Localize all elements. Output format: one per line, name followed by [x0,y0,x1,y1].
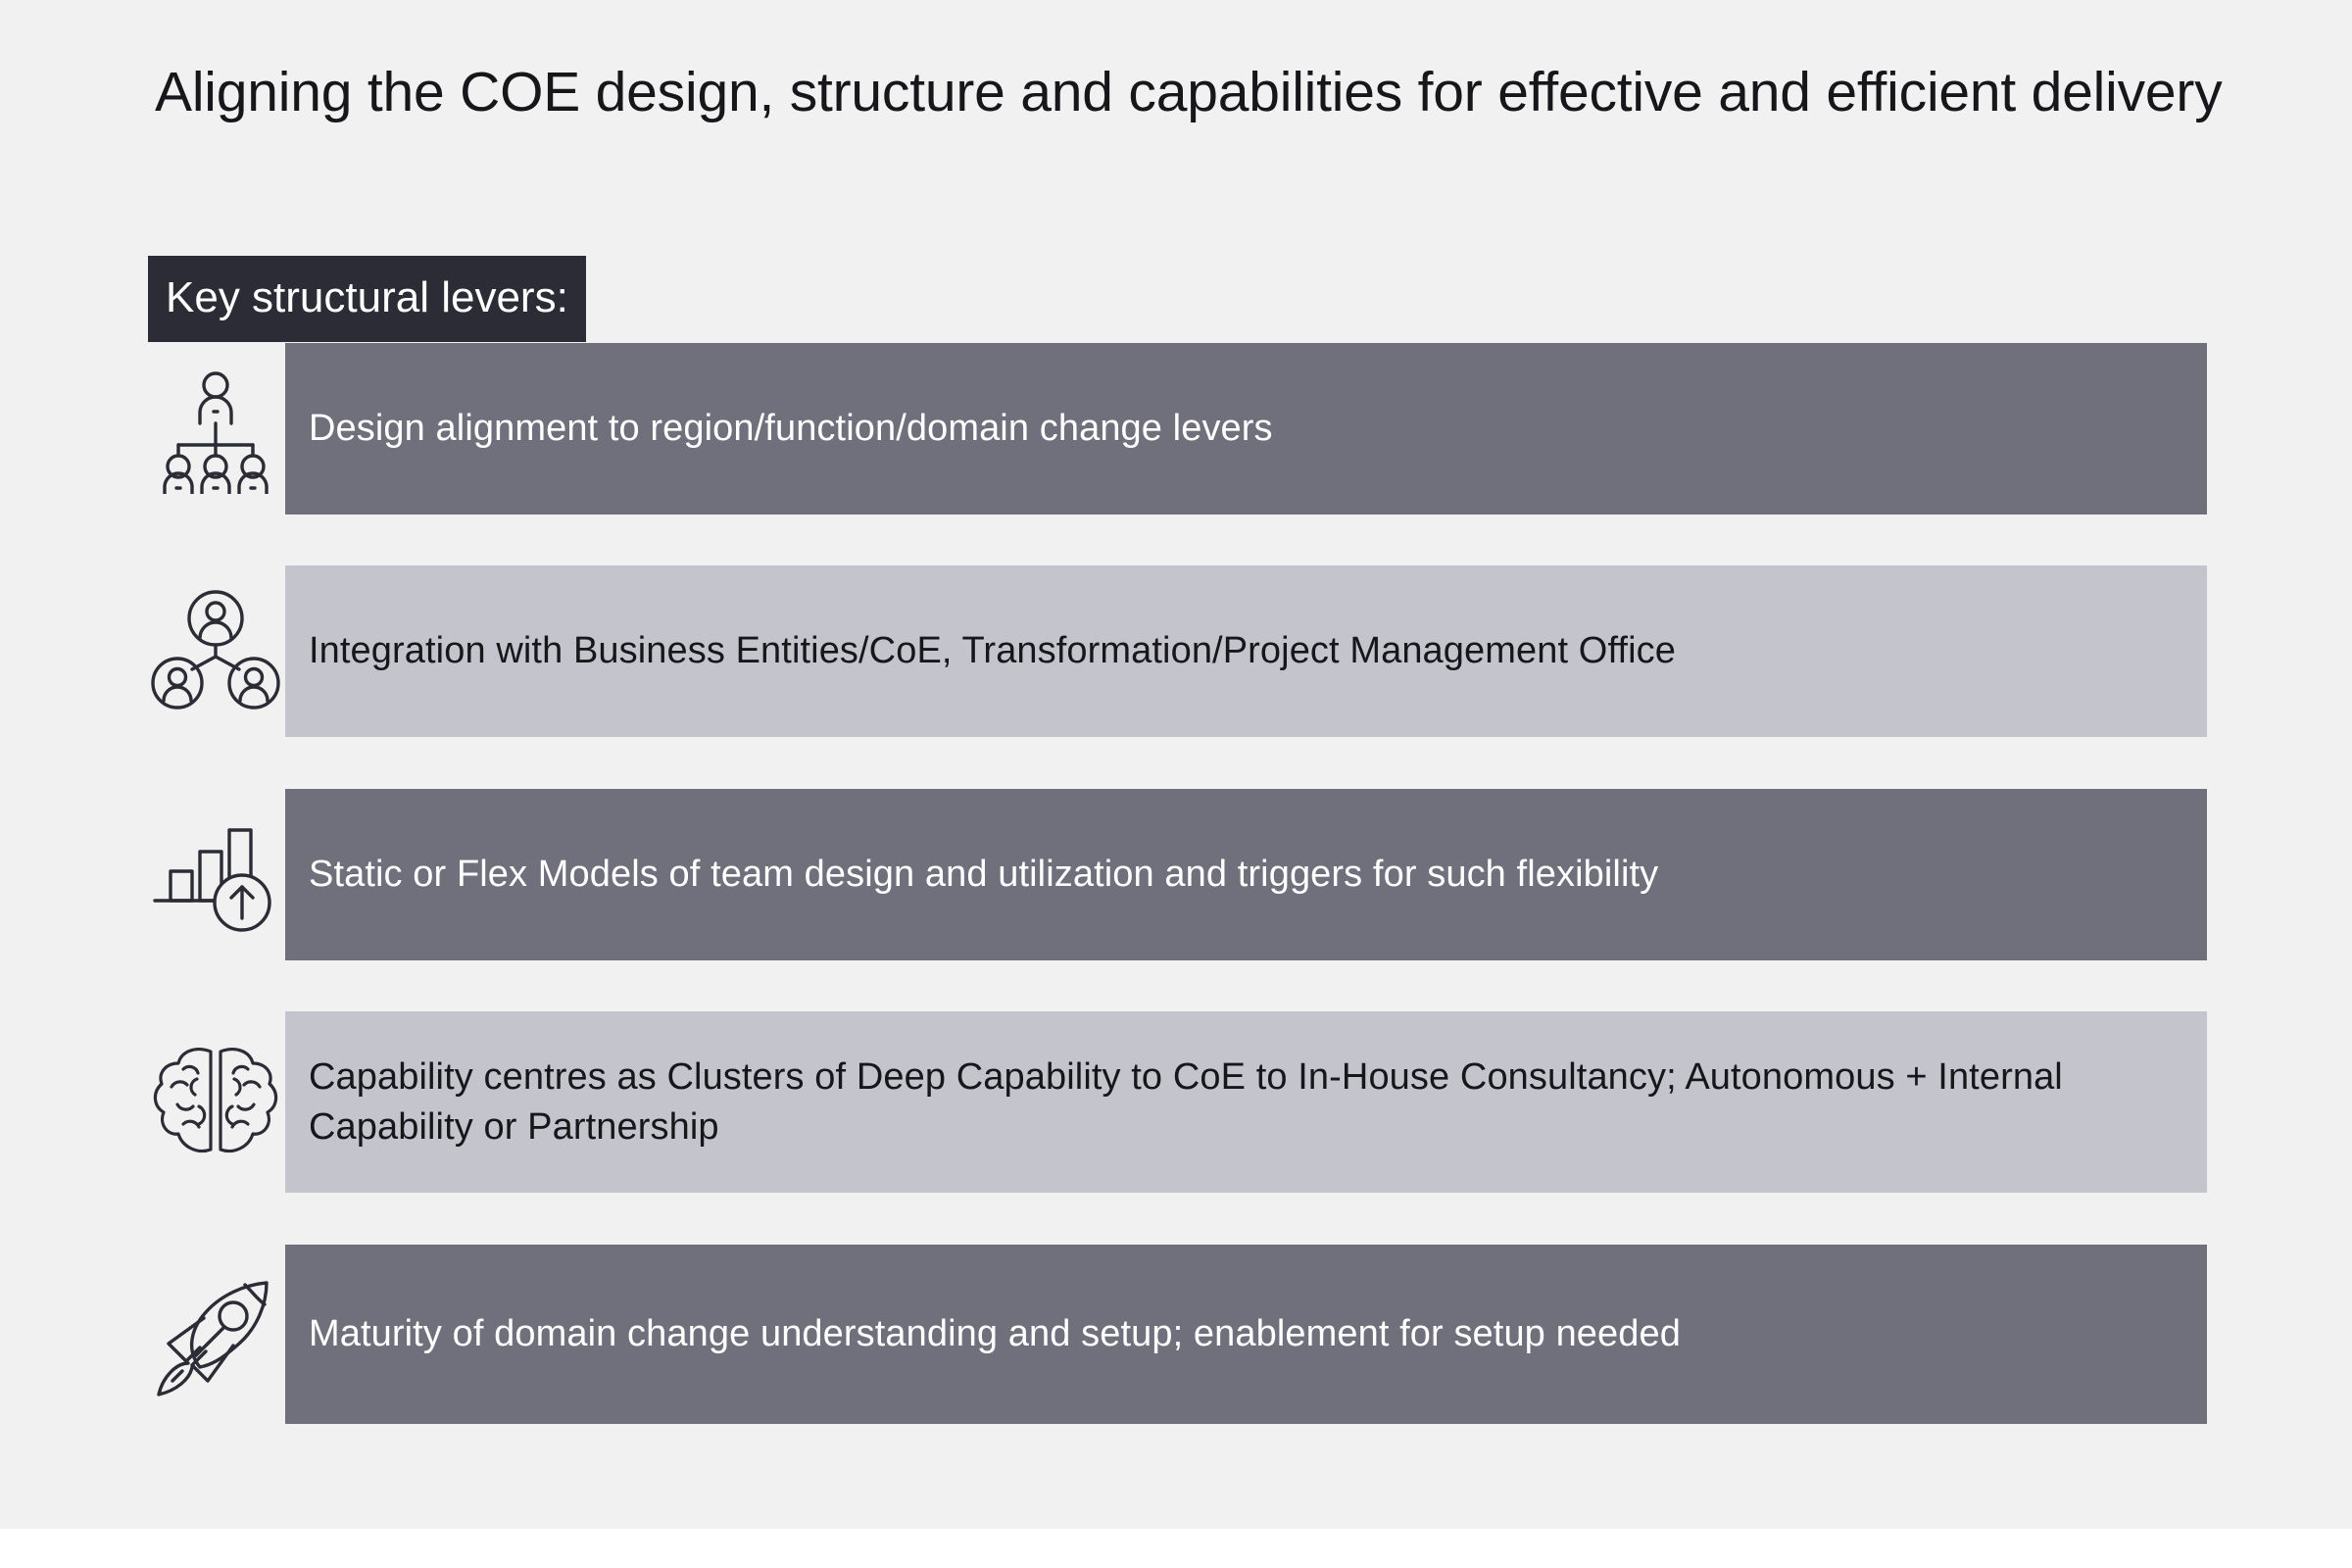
bar-chart-growth-icon [147,807,284,944]
brain-icon [147,1029,284,1176]
page-title: Aligning the COE design, structure and c… [155,59,2232,125]
slide-canvas: Aligning the COE design, structure and c… [0,0,2352,1529]
lever-bar[interactable]: Integration with Business Entities/CoE, … [285,565,2207,737]
lever-text: Capability centres as Clusters of Deep C… [309,1053,2183,1151]
lever-bar[interactable]: Design alignment to region/function/doma… [285,343,2207,514]
lever-bar[interactable]: Maturity of domain change understanding … [285,1245,2207,1424]
rocket-icon [147,1262,284,1409]
key-structural-levers-label: Key structural levers: [166,269,568,326]
lever-bar[interactable]: Static or Flex Models of team design and… [285,789,2207,960]
people-network-icon [147,583,284,720]
lever-text: Design alignment to region/function/doma… [309,404,1273,454]
lever-text: Static or Flex Models of team design and… [309,850,1658,900]
key-structural-levers-badge: Key structural levers: [148,256,586,342]
bottom-strip [0,1529,2352,1568]
lever-text: Integration with Business Entities/CoE, … [309,626,1676,676]
lever-bar[interactable]: Capability centres as Clusters of Deep C… [285,1011,2207,1193]
org-hierarchy-icon [147,361,284,498]
lever-text: Maturity of domain change understanding … [309,1309,1681,1359]
